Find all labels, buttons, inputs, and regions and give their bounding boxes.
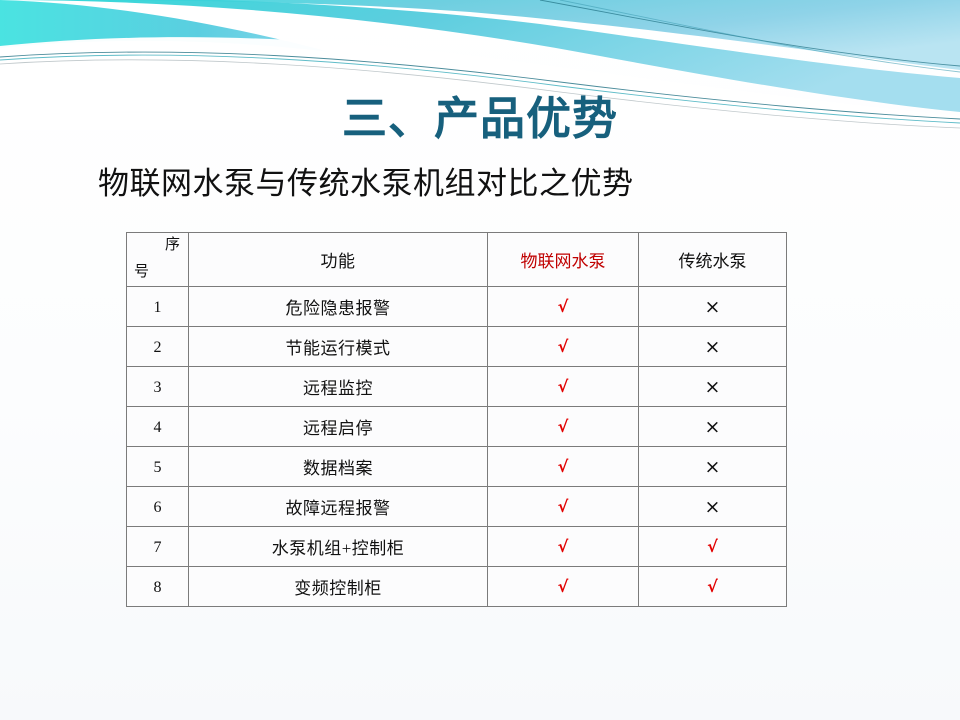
function-label: 节能运行模式 [286, 339, 391, 358]
row-index-value: 3 [154, 379, 162, 396]
row-index-value: 1 [154, 299, 162, 316]
function-label: 变频控制柜 [294, 579, 382, 598]
check-icon: √ [707, 577, 718, 596]
check-icon: √ [558, 377, 569, 396]
cell-iot-pump: √ [488, 367, 639, 407]
corner-header-bottom: 号 [134, 263, 149, 281]
cross-icon: × [705, 416, 721, 438]
row-index-value: 4 [154, 419, 162, 436]
function-label: 数据档案 [303, 459, 373, 478]
cell-iot-pump: √ [488, 527, 639, 567]
cell-index: 4 [127, 407, 189, 447]
cell-traditional-pump: × [639, 447, 787, 487]
header-cell-function: 功能 [189, 233, 488, 287]
cell-function: 危险隐患报警 [189, 287, 488, 327]
check-icon: √ [558, 417, 569, 436]
page-subtitle: 物联网水泵与传统水泵机组对比之优势 [98, 163, 878, 205]
function-label: 远程监控 [303, 379, 373, 398]
corner-header-top: 序 [165, 236, 180, 254]
table-row: 8变频控制柜√√ [127, 567, 787, 607]
cell-iot-pump: √ [488, 567, 639, 607]
cell-index: 1 [127, 287, 189, 327]
table-row: 7水泵机组+控制柜√√ [127, 527, 787, 567]
function-label: 远程启停 [303, 419, 373, 438]
cell-index: 2 [127, 327, 189, 367]
cell-function: 远程监控 [189, 367, 488, 407]
check-icon: √ [558, 337, 569, 356]
check-icon: √ [558, 577, 569, 596]
cell-iot-pump: √ [488, 487, 639, 527]
row-index-value: 6 [154, 499, 162, 516]
cell-traditional-pump: √ [639, 567, 787, 607]
header-cell-index: 序 号 [127, 233, 189, 287]
cell-iot-pump: √ [488, 287, 639, 327]
check-icon: √ [558, 497, 569, 516]
check-icon: √ [558, 297, 569, 316]
check-icon: √ [707, 537, 718, 556]
cell-function: 变频控制柜 [189, 567, 488, 607]
comparison-table-container: 序 号 功能 物联网水泵 传统水泵 1危险隐患报警√×2节能运行模式√×3远程监… [126, 232, 786, 607]
header-cell-traditional-pump: 传统水泵 [639, 233, 787, 287]
page-title: 三、产品优势 [0, 92, 960, 146]
table-row: 4远程启停√× [127, 407, 787, 447]
table-header-row: 序 号 功能 物联网水泵 传统水泵 [127, 233, 787, 287]
cell-index: 6 [127, 487, 189, 527]
check-icon: √ [558, 537, 569, 556]
table-row: 3远程监控√× [127, 367, 787, 407]
slide-canvas: 三、产品优势 物联网水泵与传统水泵机组对比之优势 序 号 功能 物联网水泵 [0, 0, 960, 720]
cross-icon: × [705, 496, 721, 518]
cell-traditional-pump: × [639, 407, 787, 447]
function-label: 水泵机组+控制柜 [272, 539, 405, 558]
cross-icon: × [705, 336, 721, 358]
cell-index: 7 [127, 527, 189, 567]
cell-iot-pump: √ [488, 407, 639, 447]
cell-function: 远程启停 [189, 407, 488, 447]
row-index-value: 5 [154, 459, 162, 476]
function-label: 危险隐患报警 [286, 299, 391, 318]
table-body: 序 号 功能 物联网水泵 传统水泵 1危险隐患报警√×2节能运行模式√×3远程监… [127, 233, 787, 607]
table-row: 2节能运行模式√× [127, 327, 787, 367]
cell-traditional-pump: × [639, 487, 787, 527]
row-index-value: 7 [154, 539, 162, 556]
function-label: 故障远程报警 [286, 499, 391, 518]
cell-index: 5 [127, 447, 189, 487]
cell-index: 3 [127, 367, 189, 407]
cross-icon: × [705, 456, 721, 478]
cell-index: 8 [127, 567, 189, 607]
cell-function: 数据档案 [189, 447, 488, 487]
cross-icon: × [705, 296, 721, 318]
row-index-value: 2 [154, 339, 162, 356]
header-cell-iot-pump: 物联网水泵 [488, 233, 639, 287]
cell-traditional-pump: × [639, 367, 787, 407]
table-row: 5数据档案√× [127, 447, 787, 487]
cell-traditional-pump: √ [639, 527, 787, 567]
cell-iot-pump: √ [488, 447, 639, 487]
table-row: 1危险隐患报警√× [127, 287, 787, 327]
cell-traditional-pump: × [639, 327, 787, 367]
cell-function: 水泵机组+控制柜 [189, 527, 488, 567]
cell-iot-pump: √ [488, 327, 639, 367]
cell-function: 节能运行模式 [189, 327, 488, 367]
row-index-value: 8 [154, 579, 162, 596]
comparison-table: 序 号 功能 物联网水泵 传统水泵 1危险隐患报警√×2节能运行模式√×3远程监… [126, 232, 787, 607]
cell-function: 故障远程报警 [189, 487, 488, 527]
table-row: 6故障远程报警√× [127, 487, 787, 527]
check-icon: √ [558, 457, 569, 476]
cross-icon: × [705, 376, 721, 398]
cell-traditional-pump: × [639, 287, 787, 327]
